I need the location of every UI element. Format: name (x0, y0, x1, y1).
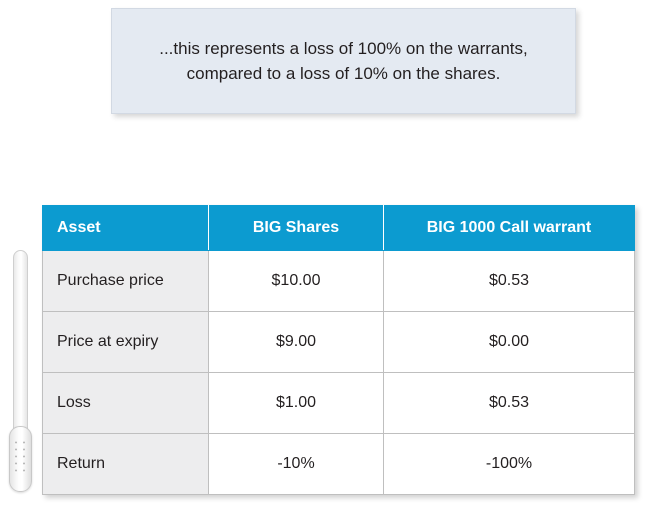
table-row: Return -10% -100% (43, 434, 635, 495)
callout-text: ...this represents a loss of 100% on the… (112, 36, 575, 86)
cell-purchase-price-warrant: $0.53 (384, 251, 635, 312)
scrollbar-thumb[interactable] (9, 426, 32, 492)
cell-loss-warrant: $0.53 (384, 373, 635, 434)
cell-purchase-price-shares: $10.00 (209, 251, 384, 312)
callout-box: ...this represents a loss of 100% on the… (111, 8, 576, 114)
cell-return-shares: -10% (209, 434, 384, 495)
cell-loss-shares: $1.00 (209, 373, 384, 434)
cell-price-at-expiry-warrant: $0.00 (384, 312, 635, 373)
scrollbar-grip-icon (15, 442, 27, 477)
table-header-row: Asset BIG Shares BIG 1000 Call warrant (43, 206, 635, 251)
table-row: Purchase price $10.00 $0.53 (43, 251, 635, 312)
row-label-price-at-expiry: Price at expiry (43, 312, 209, 373)
row-label-return: Return (43, 434, 209, 495)
cell-return-warrant: -100% (384, 434, 635, 495)
cell-price-at-expiry-shares: $9.00 (209, 312, 384, 373)
row-label-loss: Loss (43, 373, 209, 434)
column-header-big-1000-call-warrant: BIG 1000 Call warrant (384, 206, 635, 251)
row-label-purchase-price: Purchase price (43, 251, 209, 312)
column-header-big-shares: BIG Shares (209, 206, 384, 251)
table-row: Price at expiry $9.00 $0.00 (43, 312, 635, 373)
column-header-asset: Asset (43, 206, 209, 251)
vertical-scrollbar[interactable] (9, 250, 32, 492)
comparison-table: Asset BIG Shares BIG 1000 Call warrant P… (42, 205, 635, 495)
table-row: Loss $1.00 $0.53 (43, 373, 635, 434)
